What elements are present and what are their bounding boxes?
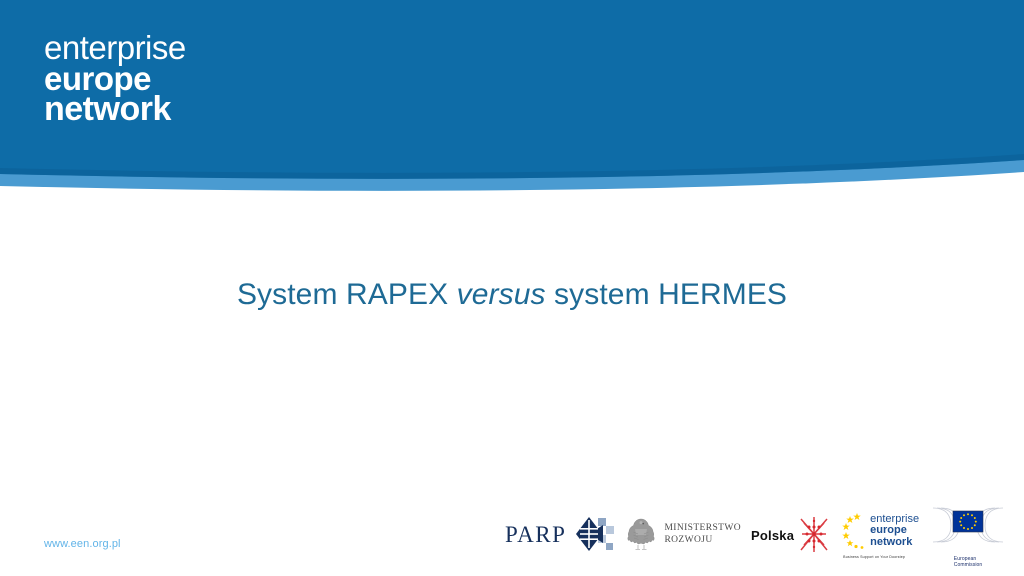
european-commission-name: European Commission	[954, 556, 983, 569]
logo-een-footer: enterprise europe network Business Suppo…	[841, 511, 919, 559]
title-emphasis-versus: versus	[457, 278, 546, 311]
parp-diamond-arrows-icon	[572, 515, 614, 555]
polish-eagle-icon	[624, 515, 658, 555]
polska-wordmark: Polska	[751, 528, 794, 543]
eu-flag-icon	[929, 502, 1007, 554]
ministry-name: MINISTERSTWO ROZWOJU	[664, 523, 741, 547]
een-footer-wordmark: enterprise europe network	[870, 514, 919, 548]
logo-european-commission: European Commission	[929, 502, 1007, 569]
een-footer-line-3: network	[870, 537, 919, 548]
ministry-line-2: ROZWOJU	[664, 535, 741, 547]
title-part-1: System RAPEX	[237, 278, 457, 311]
een-logo-line-network: network	[44, 94, 186, 126]
footer-logo-strip: PARP	[505, 504, 1017, 566]
een-logo-wordmark: enterprise europe network	[44, 33, 186, 126]
een-footer-tagline: Business Support on Your Doorstep	[841, 555, 905, 559]
presentation-slide: enterprise europe network System RAPEX v…	[0, 0, 1024, 576]
logo-ministry-of-development: MINISTERSTWO ROZWOJU	[624, 515, 741, 555]
website-url[interactable]: www.een.org.pl	[44, 538, 121, 550]
polska-kite-pattern-icon	[797, 514, 831, 556]
title-part-2: system HERMES	[546, 278, 787, 311]
ministry-line-1: MINISTERSTWO	[664, 523, 741, 535]
logo-polska: Polska	[751, 514, 831, 556]
een-stars-icon	[841, 511, 867, 551]
logo-parp: PARP	[505, 515, 614, 555]
ec-line-2: Commission	[954, 562, 983, 569]
slide-title: System RAPEX versus system HERMES	[0, 278, 1024, 312]
een-footer-line-2: europe	[870, 525, 919, 536]
parp-wordmark: PARP	[505, 522, 566, 548]
